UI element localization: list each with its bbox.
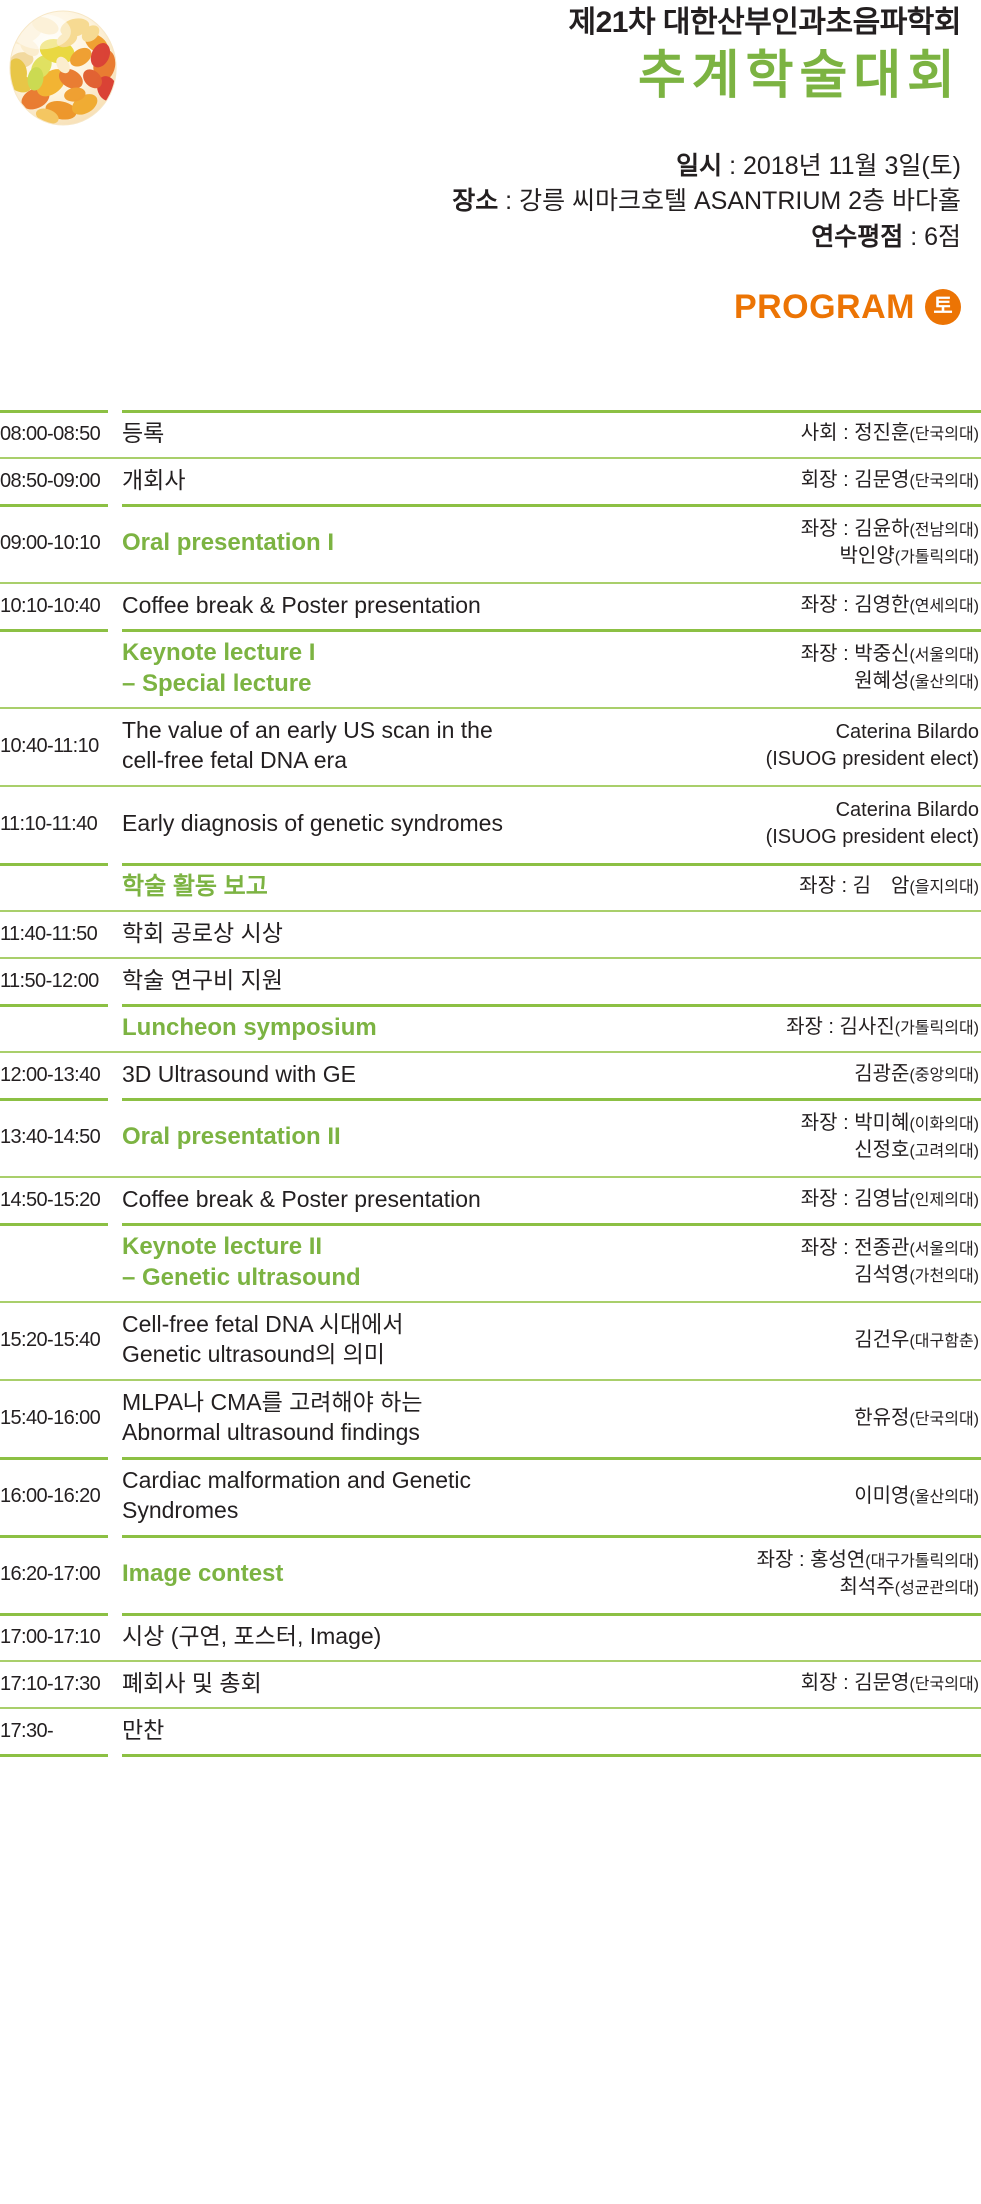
chair-affiliation: (단국의대) (909, 473, 979, 490)
session-title-line1: 만찬 (122, 1716, 971, 1746)
schedule-chair: 회장 : 김문영(단국의대) (801, 1670, 981, 1697)
schedule-chair: 사회 : 정진훈(단국의대) (801, 420, 981, 447)
schedule-session-title: Keynote lecture I– Special lecture (122, 637, 801, 699)
session-title-line1: Luncheon symposium (122, 1012, 778, 1043)
schedule-session-title: Coffee break & Poster presentation (122, 591, 801, 621)
chair-line1: 좌장 : 김영남(인제의대) (801, 1186, 979, 1213)
chair-affiliation: (가톨릭의대) (895, 549, 979, 566)
session-title-line2: Abnormal ultrasound findings (122, 1418, 846, 1448)
schedule-row: 14:50-15:20Coffee break & Poster present… (0, 1176, 981, 1223)
schedule-time: 08:50-09:00 (0, 469, 108, 493)
schedule-session-title: Luncheon symposium (122, 1012, 786, 1043)
chair-affiliation: (울산의대) (909, 674, 979, 691)
meta-date-value: 2018년 11월 3일(토) (743, 152, 961, 180)
schedule-row: 16:20-17:00Image contest좌장 : 홍성연(대구가톨릭의대… (0, 1535, 981, 1613)
schedule-time: 17:30- (0, 1719, 108, 1743)
schedule-row: 11:10-11:40Early diagnosis of genetic sy… (0, 785, 981, 863)
session-title-line2: – Special lecture (122, 668, 793, 699)
schedule-session-title: Image contest (122, 1558, 757, 1589)
chair-line1: 좌장 : 박중신(서울의대) (801, 641, 979, 668)
schedule-session-title: Cardiac malformation and GeneticSyndrome… (122, 1466, 854, 1526)
chair-affiliation: (이화의대) (909, 1116, 979, 1133)
chair-affiliation: (울산의대) (909, 1489, 979, 1506)
program-title: PROGRAM (734, 290, 915, 324)
chair-line2: 원혜성(울산의대) (801, 668, 979, 695)
schedule-time: 10:10-10:40 (0, 594, 108, 618)
schedule-row: 17:00-17:10시상 (구연, 포스터, Image) (0, 1613, 981, 1660)
chair-affiliation: (서울의대) (909, 1241, 979, 1258)
schedule-time: 11:40-11:50 (0, 922, 108, 946)
chair-affiliation: (서울의대) (909, 647, 979, 664)
poster-header: 제21차 대한산부인과초음파학회 추계학술대회 일시 : 2018년 11월 3… (0, 0, 981, 410)
schedule-row: Keynote lecture I– Special lecture좌장 : 박… (0, 629, 981, 707)
session-title-line1: The value of an early US scan in the (122, 716, 758, 746)
schedule-row: 15:40-16:00MLPA나 CMA를 고려해야 하는Abnormal ul… (0, 1379, 981, 1457)
schedule-chair: 좌장 : 김윤하(전남의대)박인양(가톨릭의대) (801, 516, 981, 570)
schedule-chair: 김건우(대구함춘) (854, 1327, 981, 1354)
meta-date: 일시 : 2018년 11월 3일(토) (0, 149, 961, 185)
session-title-line1: 개회사 (122, 466, 793, 496)
session-title-line1: Image contest (122, 1558, 749, 1589)
session-title-line1: Keynote lecture I (122, 637, 793, 668)
session-title-line2: – Genetic ultrasound (122, 1262, 793, 1293)
schedule-session-title: Cell-free fetal DNA 시대에서Genetic ultrasou… (122, 1310, 854, 1370)
conference-title: 추계학술대회 (0, 44, 961, 109)
chair-line1: 회장 : 김문영(단국의대) (801, 1670, 979, 1697)
schedule-chair: 김광준(중앙의대) (854, 1061, 981, 1088)
chair-affiliation: (대구가톨릭의대) (865, 1553, 979, 1570)
schedule-session-title: 학술 연구비 지원 (122, 966, 979, 996)
chair-line2: 신정호(고려의대) (801, 1137, 979, 1164)
program-heading: PROGRAM 토 (0, 289, 961, 325)
schedule-session-title: Keynote lecture II– Genetic ultrasound (122, 1231, 801, 1293)
schedule-session-title: Oral presentation I (122, 527, 801, 558)
schedule-row: 학술 활동 보고좌장 : 김 암(을지의대) (0, 863, 981, 910)
session-title-line1: MLPA나 CMA를 고려해야 하는 (122, 1388, 846, 1418)
schedule-chair: 좌장 : 박중신(서울의대)원혜성(울산의대) (801, 641, 981, 695)
chair-line1: 김건우(대구함춘) (854, 1327, 979, 1354)
chair-line1: 이미영(울산의대) (854, 1483, 979, 1510)
session-title-line1: 학술 활동 보고 (122, 871, 791, 902)
schedule-session-title: The value of an early US scan in thecell… (122, 716, 766, 776)
schedule-session-title: 3D Ultrasound with GE (122, 1060, 854, 1090)
schedule-session-title: 학술 활동 보고 (122, 871, 799, 902)
chair-affiliation: (연세의대) (909, 598, 979, 615)
schedule-time: 11:50-12:00 (0, 969, 108, 993)
schedule-chair: 좌장 : 김 암(을지의대) (799, 873, 981, 900)
meta-venue-label: 장소 (452, 187, 498, 215)
schedule-time: 15:40-16:00 (0, 1406, 108, 1430)
schedule-row: 17:30-만찬 (0, 1707, 981, 1754)
chair-line2: (ISUOG president elect) (766, 824, 979, 851)
chair-affiliation: (대구함춘) (909, 1333, 979, 1350)
chair-line2: (ISUOG president elect) (766, 746, 979, 773)
schedule-session-title: 만찬 (122, 1716, 979, 1746)
session-title-line1: Keynote lecture II (122, 1231, 793, 1262)
session-title-line2: cell-free fetal DNA era (122, 746, 758, 776)
chair-line1: Caterina Bilardo (766, 719, 979, 746)
schedule-time: 11:10-11:40 (0, 812, 108, 836)
chair-affiliation: (가톨릭의대) (895, 1020, 979, 1037)
schedule-session-title: Coffee break & Poster presentation (122, 1185, 801, 1215)
session-title-line1: Oral presentation I (122, 527, 793, 558)
chair-line1: 좌장 : 김윤하(전남의대) (801, 516, 979, 543)
schedule-session-title: 시상 (구연, 포스터, Image) (122, 1622, 979, 1652)
schedule-time: 16:00-16:20 (0, 1484, 108, 1508)
schedule-chair: 한유정(단국의대) (854, 1405, 981, 1432)
chair-line1: 좌장 : 홍성연(대구가톨릭의대) (757, 1547, 979, 1574)
chair-affiliation: (인제의대) (909, 1192, 979, 1209)
schedule-session-title: 등록 (122, 419, 801, 449)
schedule-time: 15:20-15:40 (0, 1328, 108, 1352)
session-title-line1: 3D Ultrasound with GE (122, 1060, 846, 1090)
saturday-badge-icon: 토 (925, 289, 961, 325)
session-title-line1: Early diagnosis of genetic syndromes (122, 809, 758, 839)
schedule-session-title: Early diagnosis of genetic syndromes (122, 809, 766, 839)
chair-affiliation: (단국의대) (909, 1411, 979, 1428)
schedule-session-title: 폐회사 및 총회 (122, 1669, 801, 1699)
chair-affiliation: (성균관의대) (895, 1580, 979, 1597)
chair-line1: 좌장 : 김 암(을지의대) (799, 873, 979, 900)
separator-gap (108, 1754, 122, 1757)
schedule-row: 12:00-13:403D Ultrasound with GE김광준(중앙의대… (0, 1051, 981, 1098)
conference-meta: 일시 : 2018년 11월 3일(토) 장소 : 강릉 씨마크호텔 ASANT… (0, 149, 961, 256)
schedule-chair: 좌장 : 김영남(인제의대) (801, 1186, 981, 1213)
chair-affiliation: (단국의대) (909, 426, 979, 443)
chair-affiliation: (을지의대) (909, 879, 979, 896)
chair-affiliation: (고려의대) (909, 1143, 979, 1160)
schedule-row: 11:50-12:00학술 연구비 지원 (0, 957, 981, 1004)
chair-line1: 좌장 : 전종관(서울의대) (801, 1235, 979, 1262)
schedule-row: 13:40-14:50Oral presentation II좌장 : 박미혜(… (0, 1098, 981, 1176)
schedule-chair: 좌장 : 박미혜(이화의대)신정호(고려의대) (801, 1110, 981, 1164)
schedule-time: 12:00-13:40 (0, 1063, 108, 1087)
schedule-time: 13:40-14:50 (0, 1125, 108, 1149)
schedule-row: Luncheon symposium좌장 : 김사진(가톨릭의대) (0, 1004, 981, 1051)
session-title-line1: Oral presentation II (122, 1121, 793, 1152)
schedule-time: 17:00-17:10 (0, 1625, 108, 1649)
schedule-session-title: 학회 공로상 시상 (122, 919, 979, 949)
meta-date-label: 일시 (676, 152, 722, 180)
chair-line1: 김광준(중앙의대) (854, 1061, 979, 1088)
session-title-line1: 폐회사 및 총회 (122, 1669, 793, 1699)
chair-line2: 김석영(가천의대) (801, 1262, 979, 1289)
meta-venue: 장소 : 강릉 씨마크호텔 ASANTRIUM 2층 바다홀 (0, 184, 961, 220)
schedule-chair: 이미영(울산의대) (854, 1483, 981, 1510)
session-title-line1: Coffee break & Poster presentation (122, 591, 793, 621)
schedule-time: 14:50-15:20 (0, 1188, 108, 1212)
separator-left (0, 1754, 108, 1757)
session-title-line2: Genetic ultrasound의 의미 (122, 1340, 846, 1370)
session-title-line1: Coffee break & Poster presentation (122, 1185, 793, 1215)
autumn-leaves-globe-logo (6, 6, 124, 130)
schedule-chair: 좌장 : 김영한(연세의대) (801, 592, 981, 619)
session-title-line1: Cardiac malformation and Genetic (122, 1466, 846, 1496)
schedule-chair: 회장 : 김문영(단국의대) (801, 467, 981, 494)
chair-line1: 좌장 : 김영한(연세의대) (801, 592, 979, 619)
chair-affiliation: (중앙의대) (909, 1067, 979, 1084)
schedule-chair: 좌장 : 김사진(가톨릭의대) (786, 1014, 981, 1041)
chair-line1: 회장 : 김문영(단국의대) (801, 467, 979, 494)
schedule-time: 08:00-08:50 (0, 422, 108, 446)
schedule-chair: Caterina Bilardo(ISUOG president elect) (766, 719, 981, 773)
chair-line1: 좌장 : 박미혜(이화의대) (801, 1110, 979, 1137)
chair-line1: Caterina Bilardo (766, 797, 979, 824)
meta-credit-value: 6점 (924, 223, 961, 251)
meta-credit-label: 연수평점 (811, 223, 903, 251)
schedule-time: 09:00-10:10 (0, 531, 108, 555)
chair-line2: 박인양(가톨릭의대) (801, 543, 979, 570)
schedule-row: 08:50-09:00개회사회장 : 김문영(단국의대) (0, 457, 981, 504)
session-title-line1: 학술 연구비 지원 (122, 966, 971, 996)
schedule-chair: 좌장 : 전종관(서울의대)김석영(가천의대) (801, 1235, 981, 1289)
schedule-chair: Caterina Bilardo(ISUOG president elect) (766, 797, 981, 851)
schedule-row: 11:40-11:50학회 공로상 시상 (0, 910, 981, 957)
session-title-line1: 학회 공로상 시상 (122, 919, 971, 949)
session-title-line2: Syndromes (122, 1496, 846, 1526)
chair-affiliation: (단국의대) (909, 1676, 979, 1693)
schedule-time: 10:40-11:10 (0, 734, 108, 758)
session-title-line1: 시상 (구연, 포스터, Image) (122, 1622, 971, 1652)
schedule-session-title: 개회사 (122, 466, 801, 496)
schedule-row: 09:00-10:10Oral presentation I좌장 : 김윤하(전… (0, 504, 981, 582)
session-title-line1: Cell-free fetal DNA 시대에서 (122, 1310, 846, 1340)
schedule-row: 10:40-11:10The value of an early US scan… (0, 707, 981, 785)
separator-right (122, 1754, 981, 1757)
schedule-chair: 좌장 : 홍성연(대구가톨릭의대)최석주(성균관의대) (757, 1547, 981, 1601)
schedule-row: Keynote lecture II– Genetic ultrasound좌장… (0, 1223, 981, 1301)
chair-line1: 한유정(단국의대) (854, 1405, 979, 1432)
chair-line1: 사회 : 정진훈(단국의대) (801, 420, 979, 447)
meta-venue-value: 강릉 씨마크호텔 ASANTRIUM 2층 바다홀 (519, 187, 961, 215)
chair-line1: 좌장 : 김사진(가톨릭의대) (786, 1014, 979, 1041)
schedule-row: 16:00-16:20Cardiac malformation and Gene… (0, 1457, 981, 1535)
chair-affiliation: (전남의대) (909, 522, 979, 539)
meta-credit: 연수평점 : 6점 (0, 220, 961, 256)
chair-affiliation: (가천의대) (909, 1268, 979, 1285)
schedule-row: 15:20-15:40Cell-free fetal DNA 시대에서Genet… (0, 1301, 981, 1379)
schedule-row: 08:00-08:50등록사회 : 정진훈(단국의대) (0, 410, 981, 457)
schedule-row: 17:10-17:30폐회사 및 총회회장 : 김문영(단국의대) (0, 1660, 981, 1707)
schedule-time: 17:10-17:30 (0, 1672, 108, 1696)
schedule-session-title: Oral presentation II (122, 1121, 801, 1152)
session-title-line1: 등록 (122, 419, 793, 449)
conference-subtitle: 제21차 대한산부인과초음파학회 (0, 4, 961, 42)
schedule-time: 16:20-17:00 (0, 1562, 108, 1586)
program-schedule-table: 08:00-08:50등록사회 : 정진훈(단국의대)08:50-09:00개회… (0, 410, 981, 1754)
schedule-session-title: MLPA나 CMA를 고려해야 하는Abnormal ultrasound fi… (122, 1388, 854, 1448)
chair-line2: 최석주(성균관의대) (757, 1574, 979, 1601)
schedule-row: 10:10-10:40Coffee break & Poster present… (0, 582, 981, 629)
